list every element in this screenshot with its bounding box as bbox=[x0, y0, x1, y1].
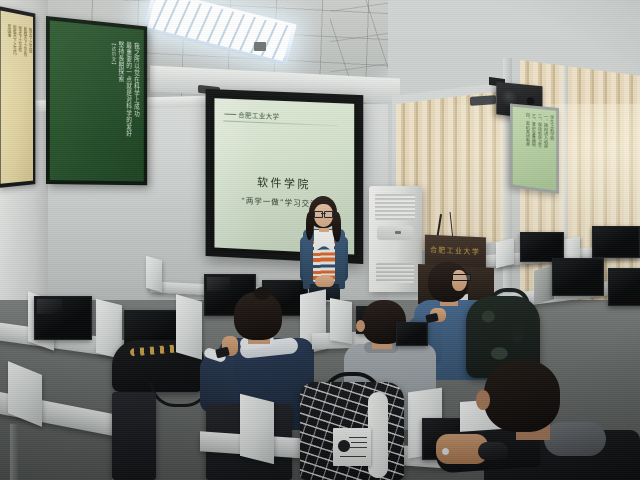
scroll-calligraphy-text: 惟天下之至诚 能胜天下之至伪 惟天下之至拙 能胜天下之至巧 曾国藩 bbox=[2, 23, 31, 178]
ac-display bbox=[395, 231, 401, 234]
classroom-photo: 惟天下之至诚 能胜天下之至伪 惟天下之至拙 能胜天下之至巧 曾国藩 我之所以觉在… bbox=[0, 0, 640, 480]
poster-text: 学生上机守则 一、按时进入机房 二、保持机房卫生 三、爱护设备器材 四、离机关闭… bbox=[515, 112, 555, 188]
podium-name-plate: 合肥工业大学 bbox=[431, 243, 480, 260]
glasses-icon bbox=[314, 211, 333, 216]
presenter bbox=[298, 196, 350, 300]
ac-top-grille bbox=[375, 194, 415, 220]
monitor-screen bbox=[554, 260, 602, 294]
monitor-screen bbox=[398, 324, 426, 344]
bag-label-tag bbox=[333, 428, 371, 466]
monitor-glare bbox=[207, 277, 230, 291]
computer-mouse bbox=[478, 442, 508, 460]
slide-glare bbox=[214, 98, 310, 254]
desk-divider bbox=[146, 256, 162, 293]
glasses-lens bbox=[324, 211, 333, 218]
tag-line bbox=[351, 442, 367, 443]
green-board-text: 我之所以觉在科学上成功 最重要的一点就是对科学的爱好 堅持長期探索 【达尔文】 bbox=[61, 35, 138, 173]
chair-back bbox=[112, 392, 156, 480]
monitor bbox=[552, 258, 604, 296]
tag-line bbox=[349, 447, 367, 448]
student-hair bbox=[254, 287, 270, 300]
jacket-hood bbox=[544, 422, 606, 456]
ring bbox=[442, 448, 449, 455]
presenter-hands bbox=[315, 276, 334, 287]
desk-divider bbox=[496, 238, 514, 268]
mouse-pad-monitor bbox=[396, 322, 428, 346]
monitor-screen bbox=[594, 228, 638, 256]
tag-logo-icon bbox=[338, 440, 350, 452]
desk-divider bbox=[240, 394, 274, 464]
bag-white-panel bbox=[368, 392, 388, 478]
projection-screen-roller bbox=[470, 95, 496, 106]
monitor-screen bbox=[610, 270, 640, 304]
monitor bbox=[34, 296, 92, 340]
presenter-hair-strand bbox=[332, 212, 341, 242]
monitor bbox=[608, 268, 640, 306]
desk-leg bbox=[10, 424, 18, 480]
monitor-glare bbox=[37, 299, 62, 314]
tag-line bbox=[349, 437, 367, 438]
monitor bbox=[592, 226, 640, 258]
green-notice-poster: 学生上机守则 一、按时进入机房 二、保持机房卫生 三、爱护设备器材 四、离机关闭… bbox=[510, 103, 559, 194]
monitor-screen bbox=[522, 234, 562, 260]
student-ear bbox=[476, 390, 490, 410]
calligraphy-scroll-frame: 惟天下之至诚 能胜天下之至伪 惟天下之至拙 能胜天下之至巧 曾国藩 bbox=[0, 6, 35, 188]
desk-divider bbox=[534, 265, 554, 305]
student-ear bbox=[356, 320, 365, 332]
ceiling-vent bbox=[254, 42, 266, 51]
foreground-student bbox=[440, 360, 640, 480]
glasses-icon bbox=[452, 274, 471, 281]
green-calligraphy-board: 我之所以觉在科学上成功 最重要的一点就是对科学的爱好 堅持長期探索 【达尔文】 bbox=[46, 16, 147, 185]
student-head bbox=[484, 360, 560, 432]
tag-line bbox=[340, 456, 366, 457]
